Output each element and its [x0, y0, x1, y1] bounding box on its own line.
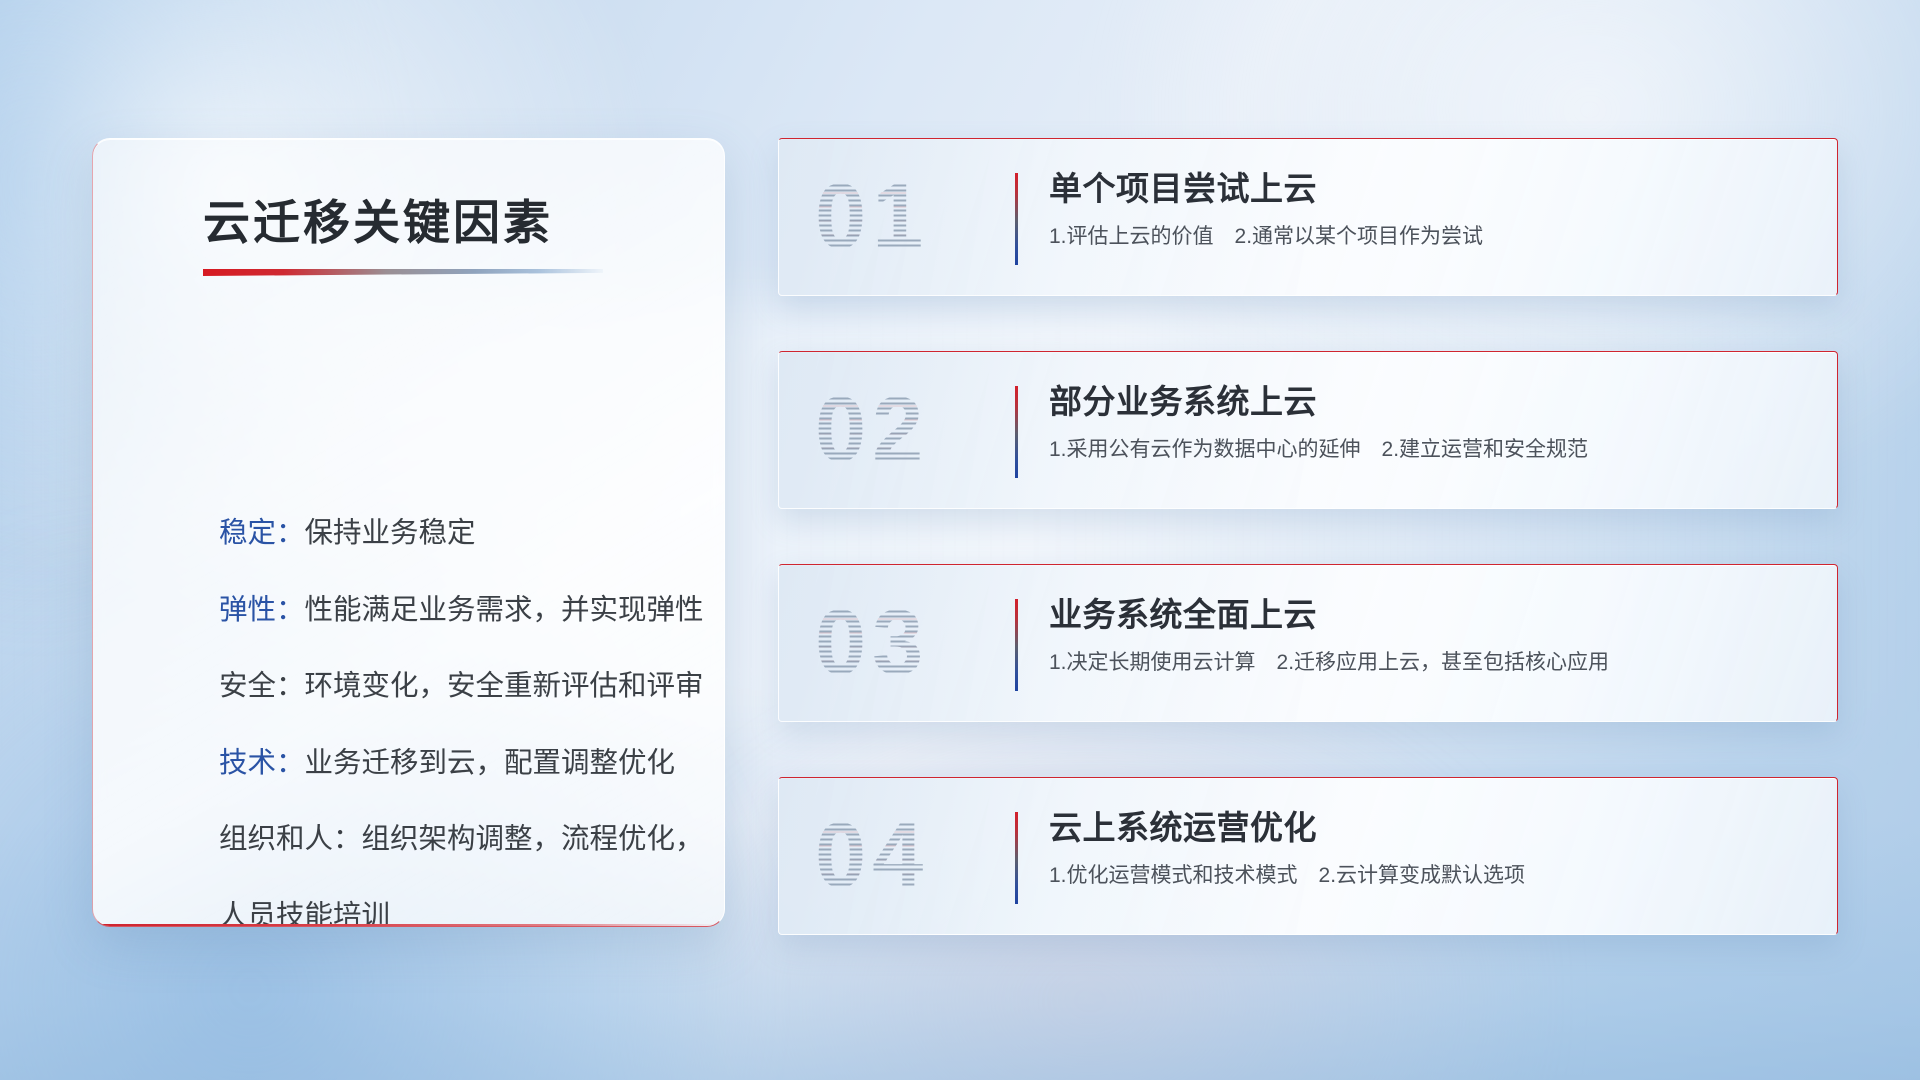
stage-card[interactable]: 0202部分业务系统上云1.采用公有云作为数据中心的延伸 2.建立运营和安全规范	[778, 351, 1838, 509]
stage-number: 03	[815, 591, 929, 696]
factor-value: 人员技能培训	[219, 902, 390, 928]
card-title: 部分业务系统上云	[1049, 384, 1811, 420]
card-description: 1.评估上云的价值 2.通常以某个项目作为尝试	[1049, 225, 1811, 248]
factor-row: 稳定：保持业务稳定	[219, 519, 674, 548]
factor-key: 技术：	[219, 749, 305, 778]
factor-row: 安全：环境变化，安全重新评估和评审	[219, 672, 674, 701]
factor-value: 性能满足业务需求，并实现弹性	[305, 596, 704, 625]
title-underline-accent	[203, 269, 603, 276]
stage-card[interactable]: 0101单个项目尝试上云1.评估上云的价值 2.通常以某个项目作为尝试	[778, 138, 1838, 296]
card-body: 云上系统运营优化1.优化运营模式和技术模式 2.云计算变成默认选项	[1049, 810, 1811, 887]
factor-row: 组织和人：组织架构调整，流程优化，	[219, 825, 674, 854]
card-description: 1.决定长期使用云计算 2.迁移应用上云，甚至包括核心应用	[1049, 651, 1811, 674]
card-divider-accent	[1015, 173, 1018, 265]
factor-value: 保持业务稳定	[305, 519, 476, 548]
stage-card[interactable]: 0303业务系统全面上云1.决定长期使用云计算 2.迁移应用上云，甚至包括核心应…	[778, 564, 1838, 722]
card-title: 单个项目尝试上云	[1049, 171, 1811, 207]
card-title: 云上系统运营优化	[1049, 810, 1811, 846]
factor-row: 弹性：性能满足业务需求，并实现弹性	[219, 596, 674, 625]
stage-card-list: 0101单个项目尝试上云1.评估上云的价值 2.通常以某个项目作为尝试0202部…	[778, 138, 1838, 935]
card-divider-accent	[1015, 386, 1018, 478]
card-description: 1.优化运营模式和技术模式 2.云计算变成默认选项	[1049, 864, 1811, 887]
card-divider-accent	[1015, 812, 1018, 904]
factor-value: 环境变化，安全重新评估和评审	[305, 672, 704, 701]
card-body: 单个项目尝试上云1.评估上云的价值 2.通常以某个项目作为尝试	[1049, 171, 1811, 248]
card-description: 1.采用公有云作为数据中心的延伸 2.建立运营和安全规范	[1049, 438, 1811, 461]
factor-key: 弹性：	[219, 596, 305, 625]
factor-key: 组织和人：	[219, 825, 362, 854]
card-divider-accent	[1015, 599, 1018, 691]
card-body: 业务系统全面上云1.决定长期使用云计算 2.迁移应用上云，甚至包括核心应用	[1049, 597, 1811, 674]
factor-value: 组织架构调整，流程优化，	[362, 825, 704, 854]
factor-row: 人员技能培训	[219, 902, 674, 928]
page-title: 云迁移关键因素	[203, 184, 553, 253]
factor-row: 技术：业务迁移到云，配置调整优化	[219, 749, 674, 778]
stage-number: 02	[815, 378, 929, 483]
factor-key: 安全：	[219, 672, 305, 701]
factor-value: 业务迁移到云，配置调整优化	[305, 749, 676, 778]
stage-card[interactable]: 0404云上系统运营优化1.优化运营模式和技术模式 2.云计算变成默认选项	[778, 777, 1838, 935]
factor-list: 稳定：保持业务稳定弹性：性能满足业务需求，并实现弹性安全：环境变化，安全重新评估…	[219, 519, 674, 927]
card-body: 部分业务系统上云1.采用公有云作为数据中心的延伸 2.建立运营和安全规范	[1049, 384, 1811, 461]
stage-number: 01	[815, 165, 929, 270]
card-title: 业务系统全面上云	[1049, 597, 1811, 633]
key-factors-panel: 云迁移关键因素 稳定：保持业务稳定弹性：性能满足业务需求，并实现弹性安全：环境变…	[92, 138, 725, 927]
factor-key: 稳定：	[219, 519, 305, 548]
stage-number: 04	[815, 804, 929, 909]
